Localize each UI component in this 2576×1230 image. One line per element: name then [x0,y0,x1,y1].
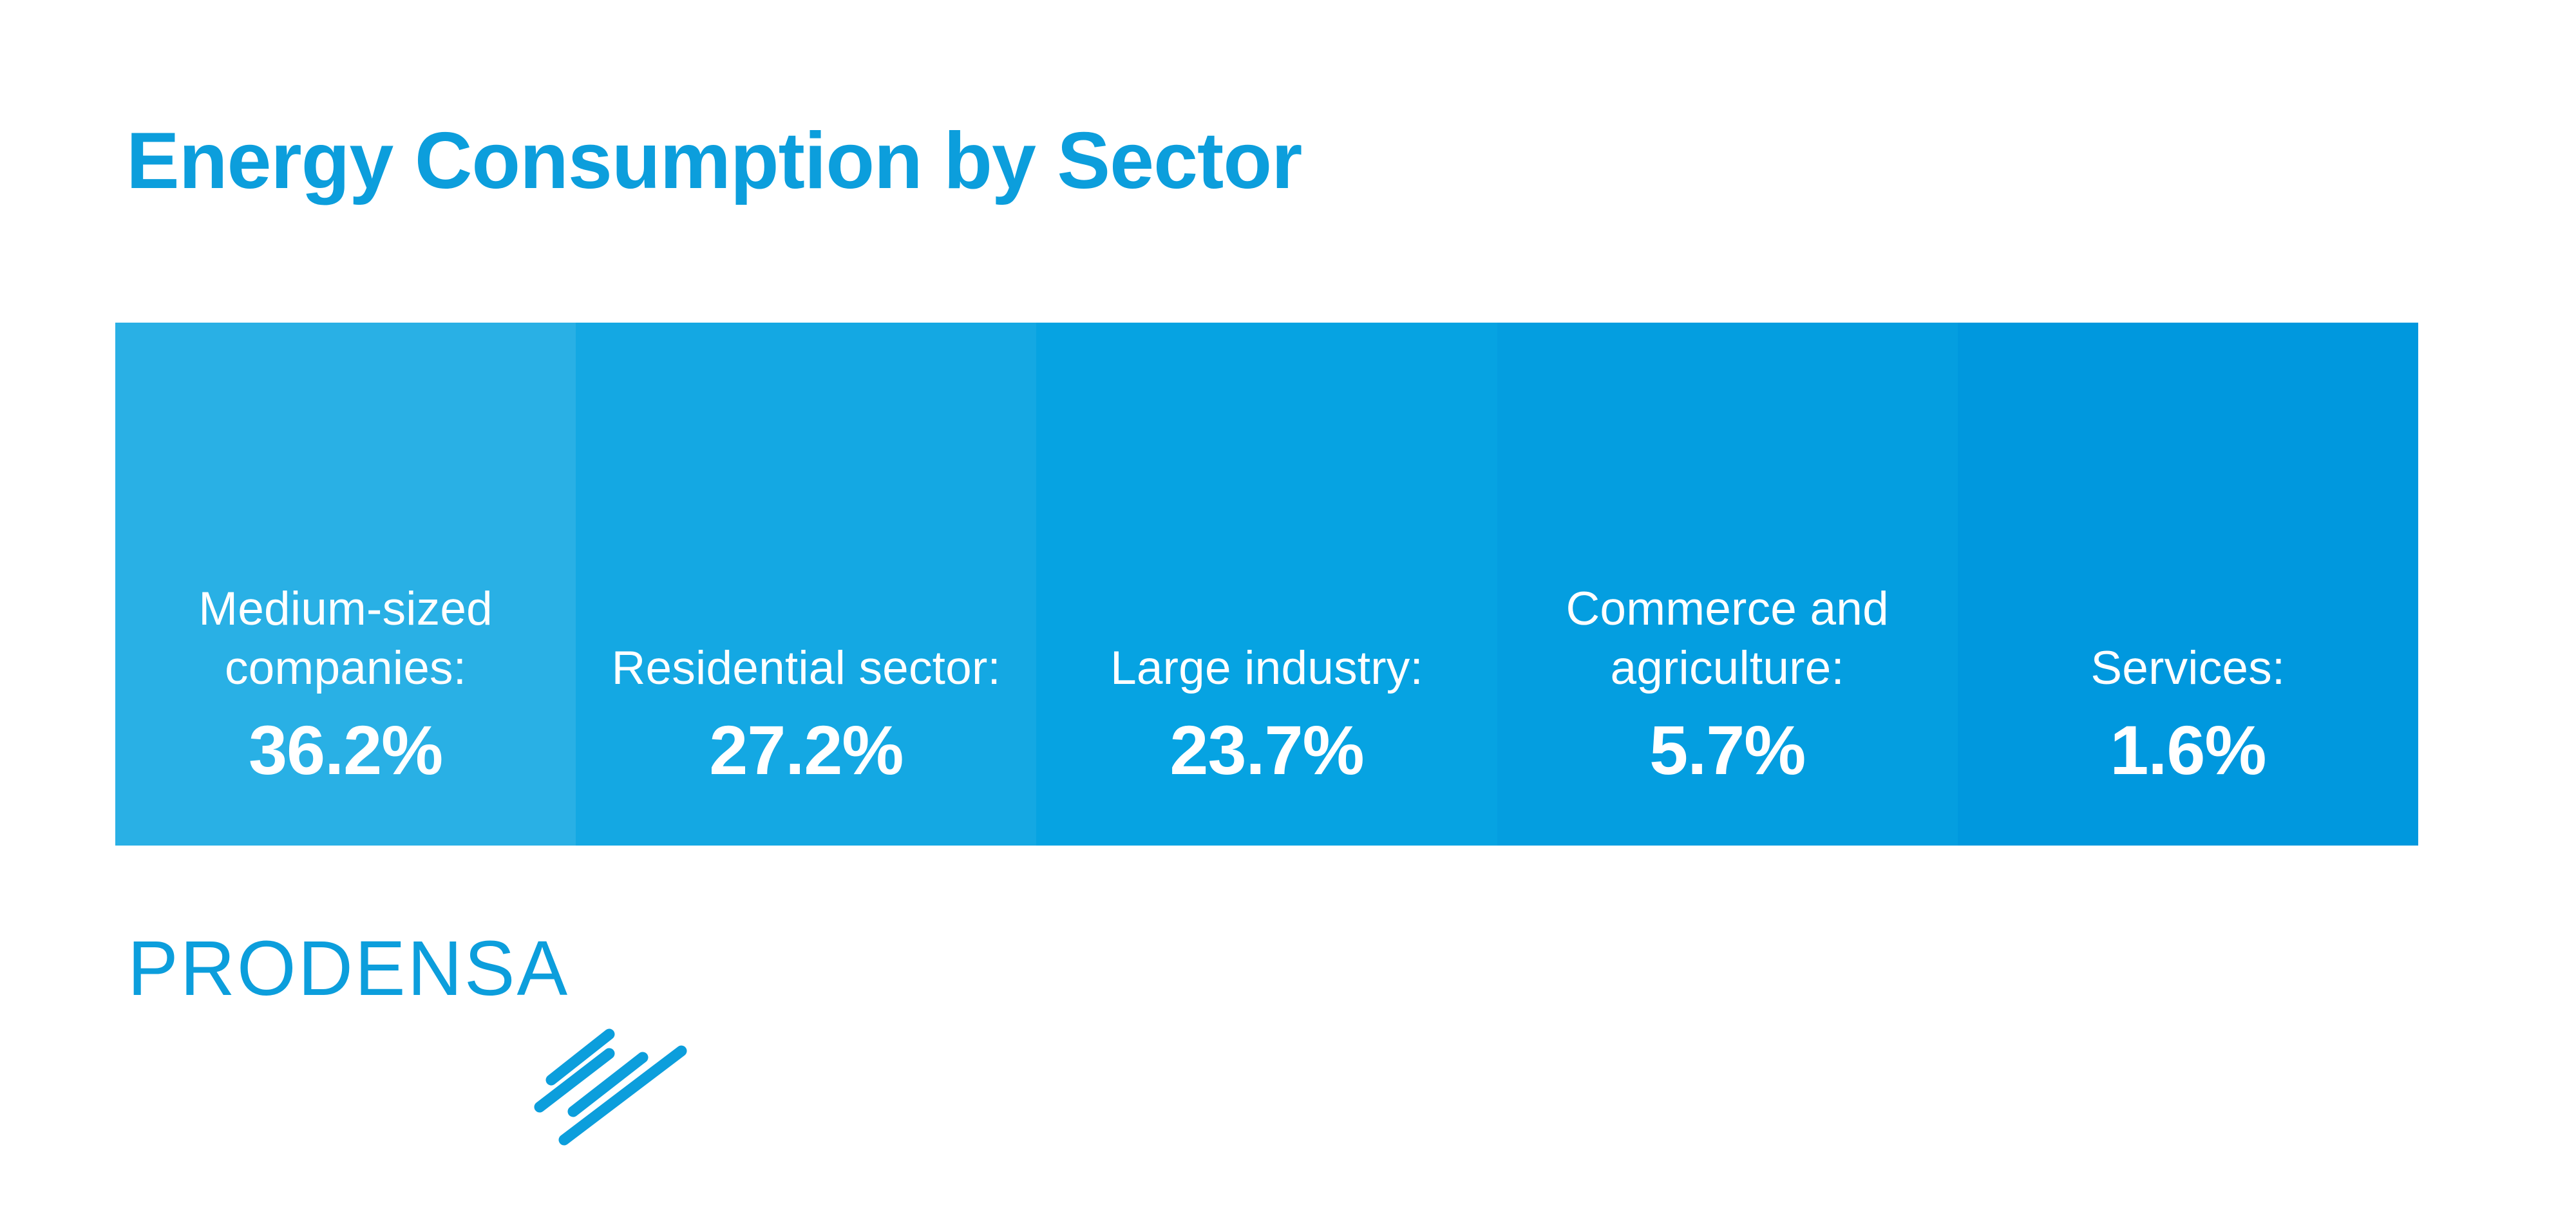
sector-label: Commerce and agriculture: [1509,580,1946,699]
sector-panel-medium-sized-companies[interactable]: Medium-sized companies: 36.2% [115,323,576,846]
sector-panel-residential-sector[interactable]: Residential sector: 27.2% [576,323,1036,846]
sector-panel-large-industry[interactable]: Large industry: 23.7% [1036,323,1497,846]
sector-value: 23.7% [1170,715,1363,785]
sector-value: 5.7% [1649,715,1805,785]
logo-wordmark: PRODENSA [128,930,569,1007]
sector-label: Residential sector: [587,639,1025,699]
infographic-canvas: Energy Consumption by Sector Medium-size… [0,0,2576,1230]
sector-panel-services[interactable]: Services: 1.6% [1958,323,2418,846]
sector-value: 1.6% [2110,715,2266,785]
sector-stat-bar: Medium-sized companies: 36.2% Residentia… [115,323,2418,846]
sector-label: Large industry: [1048,639,1485,699]
page-title: Energy Consumption by Sector [126,117,1302,205]
prodensa-diagonal-stripes-icon [527,1020,707,1149]
sector-panel-commerce-and-agriculture[interactable]: Commerce and agriculture: 5.7% [1497,323,1958,846]
prodensa-logo[interactable]: PRODENSA [128,917,720,1130]
sector-label: Medium-sized companies: [127,580,564,699]
sector-label: Services: [1969,639,2407,699]
sector-value: 27.2% [709,715,903,785]
sector-value: 36.2% [249,715,442,785]
